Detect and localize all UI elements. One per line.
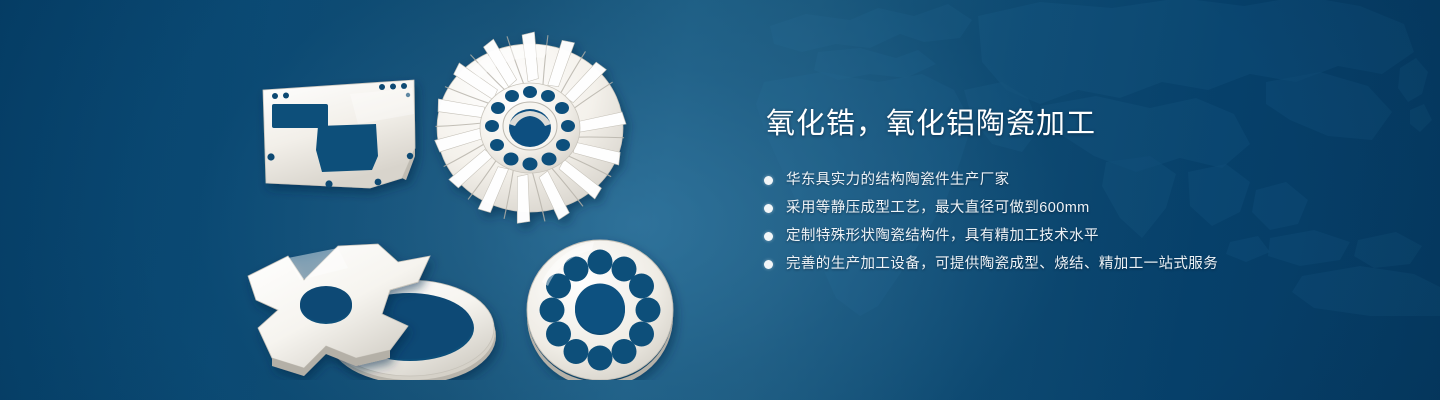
ceramic-impeller [434, 31, 626, 225]
list-item: 完善的生产加工设备，可提供陶瓷成型、烧结、精加工一站式服务 [764, 255, 1364, 274]
ceramic-plate [260, 80, 416, 188]
hero-banner: 氧化锆，氧化铝陶瓷加工 华东具实力的结构陶瓷件生产厂家 采用等静压成型工艺，最大… [0, 0, 1440, 400]
page-title: 氧化锆，氧化铝陶瓷加工 [766, 108, 1364, 141]
bullet-dot-icon [764, 232, 773, 241]
list-item-label: 采用等静压成型工艺，最大直径可做到600mm [786, 199, 1090, 218]
product-photo-collage [230, 28, 700, 380]
banner-copy: 氧化锆，氧化铝陶瓷加工 华东具实力的结构陶瓷件生产厂家 采用等静压成型工艺，最大… [764, 108, 1364, 283]
list-item: 采用等静压成型工艺，最大直径可做到600mm [764, 199, 1364, 218]
list-item: 定制特殊形状陶瓷结构件，具有精加工技术水平 [764, 227, 1364, 246]
list-item-label: 完善的生产加工设备，可提供陶瓷成型、烧结、精加工一站式服务 [786, 255, 1218, 274]
bullet-dot-icon [764, 260, 773, 269]
list-item: 华东具实力的结构陶瓷件生产厂家 [764, 171, 1364, 190]
bullet-dot-icon [764, 204, 773, 213]
list-item-label: 华东具实力的结构陶瓷件生产厂家 [786, 171, 1010, 190]
ceramic-perforated-disc [527, 240, 673, 380]
feature-list: 华东具实力的结构陶瓷件生产厂家 采用等静压成型工艺，最大直径可做到600mm 定… [764, 171, 1364, 273]
list-item-label: 定制特殊形状陶瓷结构件，具有精加工技术水平 [786, 227, 1099, 246]
bullet-dot-icon [764, 176, 773, 185]
